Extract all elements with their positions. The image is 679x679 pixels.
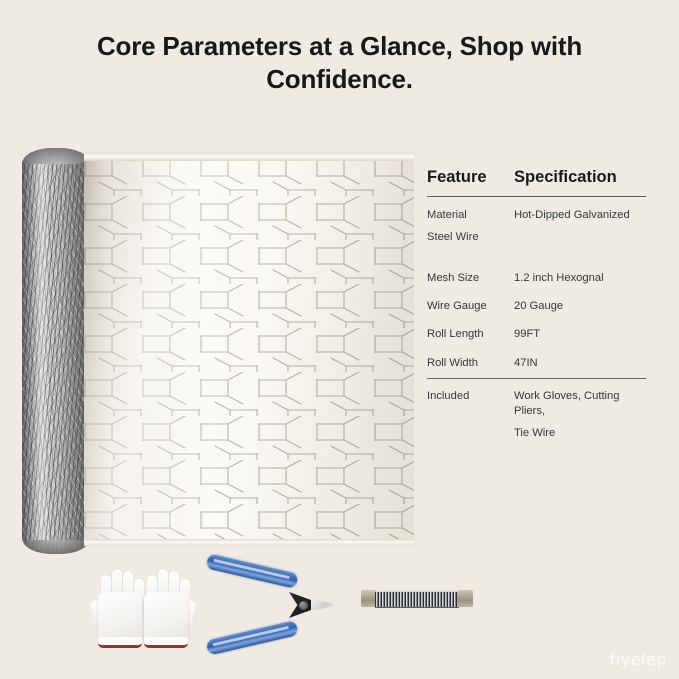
spec-table: Feature Specification Material Hot-Dippe…	[427, 168, 649, 454]
cutting-pliers-image	[203, 568, 333, 646]
table-row: Included Work Gloves, Cutting Pliers,	[427, 389, 649, 419]
plier-pivot-bolt	[299, 601, 308, 610]
handle-highlight	[213, 559, 290, 579]
cell-feature: Roll Length	[427, 327, 514, 342]
cell-feature: Roll Width	[427, 356, 514, 371]
cell-feature: Wire Gauge	[427, 299, 514, 314]
roll-bottom-cap	[22, 540, 90, 554]
hexagonal-mesh-pattern	[84, 152, 414, 546]
cell-specification: Hot-Dipped Galvanized	[514, 208, 649, 223]
tie-wire-image	[361, 588, 473, 609]
cell-specification: 47IN	[514, 356, 649, 371]
cell-specification: 1.2 inch Hexognal	[514, 271, 649, 286]
table-row: Steel Wire	[427, 230, 649, 245]
cell-specification: Work Gloves, Cutting Pliers,	[514, 389, 649, 419]
tie-wire-coil	[375, 591, 459, 608]
wire-roll-image	[22, 148, 90, 554]
roll-highlight	[32, 148, 50, 554]
mesh-panel-image	[84, 152, 414, 546]
page-title: Core Parameters at a Glance, Shop with C…	[0, 30, 679, 97]
spec-table-body: Material Hot-Dipped Galvanized Steel Wir…	[427, 197, 649, 441]
glove-palm	[98, 592, 142, 642]
product-infographic: Core Parameters at a Glance, Shop with C…	[0, 0, 679, 679]
glove-cuff	[98, 637, 142, 648]
cell-specification: 20 Gauge	[514, 299, 649, 314]
cell-feature	[427, 426, 514, 441]
cell-specification: 99FT	[514, 327, 649, 342]
table-row: Wire Gauge 20 Gauge	[427, 299, 649, 314]
glove-right	[138, 562, 194, 650]
cell-feature: Material	[427, 208, 514, 223]
spec-table-header-row: Feature Specification	[427, 168, 649, 196]
table-row: Roll Length 99FT	[427, 327, 649, 342]
table-row: Material Hot-Dipped Galvanized	[427, 208, 649, 223]
plier-handle-upper	[206, 553, 299, 588]
plier-cutting-tip	[311, 596, 333, 614]
cell-feature: Included	[427, 389, 514, 419]
mesh-bottom-edge	[84, 539, 414, 546]
roll-top-cap	[22, 148, 90, 164]
table-row: Mesh Size 1.2 inch Hexognal	[427, 271, 649, 286]
tie-wire-end-right	[457, 590, 473, 607]
column-header-specification: Specification	[514, 168, 617, 187]
cell-feature: Mesh Size	[427, 271, 514, 286]
mesh-top-edge	[84, 152, 414, 161]
included-section: Included Work Gloves, Cutting Pliers, Ti…	[427, 379, 649, 441]
work-gloves-image	[92, 562, 200, 650]
table-row: Tie Wire	[427, 426, 649, 441]
column-header-feature: Feature	[427, 168, 514, 187]
row-spacer	[427, 258, 649, 271]
cell-specification: Tie Wire	[514, 426, 649, 441]
table-row: Roll Width 47IN	[427, 356, 649, 371]
cell-specification	[514, 230, 649, 245]
plier-handle-lower	[206, 620, 299, 655]
handle-highlight	[212, 626, 289, 646]
glove-palm	[144, 592, 188, 642]
cell-feature: Steel Wire	[427, 230, 514, 245]
brand-watermark: fiyelep	[610, 650, 667, 669]
glove-cuff	[144, 637, 188, 648]
